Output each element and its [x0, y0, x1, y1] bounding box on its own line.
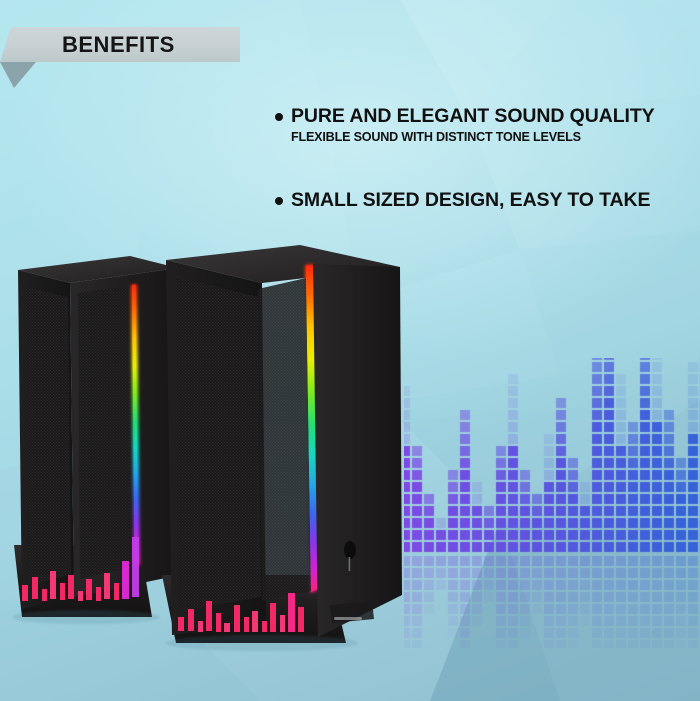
benefit-item-2: SMALL SIZED DESIGN, EASY TO TAKE [275, 188, 700, 213]
speaker-right [162, 245, 402, 643]
benefit-item-1: PURE AND ELEGANT SOUND QUALITY [275, 104, 700, 129]
equalizer-canvas [404, 358, 700, 648]
product-image-speakers [0, 245, 420, 665]
speakers-svg [0, 245, 420, 665]
speaker-right-side [313, 264, 402, 637]
bullet-dot-icon [275, 197, 283, 205]
speaker-right-grille [176, 277, 261, 611]
marketing-banner-stage: BENEFITS PURE AND ELEGANT SOUND QUALITY … [0, 0, 700, 701]
benefit-subtitle-1: FLEXIBLE SOUND WITH DISTINCT TONE LEVELS [291, 130, 700, 145]
section-title: BENEFITS [62, 31, 175, 59]
benefit-title-1: PURE AND ELEGANT SOUND QUALITY [291, 104, 655, 129]
benefits-list: PURE AND ELEGANT SOUND QUALITY FLEXIBLE … [275, 104, 700, 213]
volume-knob[interactable] [344, 541, 356, 559]
benefit-title-2: SMALL SIZED DESIGN, EASY TO TAKE [291, 188, 650, 213]
ribbon-fold-icon [0, 62, 36, 88]
benefit-spacer [275, 145, 700, 188]
benefits-ribbon: BENEFITS [0, 27, 250, 87]
speaker-left [14, 256, 180, 617]
speaker-left-grille [26, 287, 71, 585]
bullet-dot-icon [275, 113, 283, 121]
audio-waveform-graphic [404, 358, 700, 503]
